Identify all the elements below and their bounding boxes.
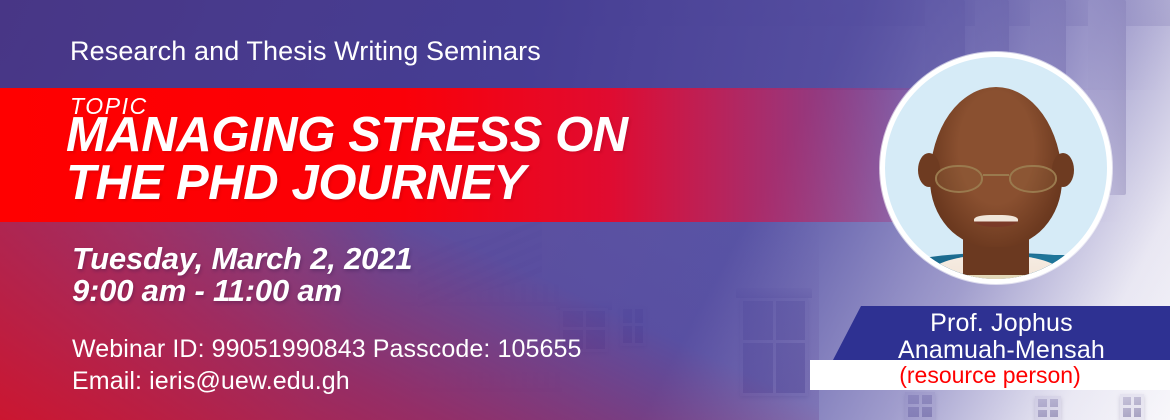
topic-title-line-1: MANAGING STRESS ON xyxy=(66,112,628,160)
speaker-role: (resource person) xyxy=(810,362,1170,389)
event-datetime: Tuesday, March 2, 2021 9:00 am - 11:00 a… xyxy=(72,243,412,306)
speaker-name-line-1: Prof. Jophus xyxy=(833,310,1170,337)
join-details: Webinar ID: 99051990843 Passcode: 105655… xyxy=(72,333,581,397)
contact-email: Email: ieris@uew.edu.gh xyxy=(72,365,581,397)
glasses-bridge xyxy=(983,174,1009,176)
topic-title: MANAGING STRESS ON THE PHD JOURNEY xyxy=(66,112,628,207)
eyeglasses xyxy=(935,165,1057,195)
topic-title-line-2: THE PHD JOURNEY xyxy=(66,160,628,208)
speaker-portrait xyxy=(880,52,1112,284)
event-date: Tuesday, March 2, 2021 xyxy=(72,243,412,275)
seminar-series-title: Research and Thesis Writing Seminars xyxy=(70,36,541,67)
event-time: 9:00 am - 11:00 am xyxy=(72,275,412,307)
mouth xyxy=(974,215,1018,227)
lens-right xyxy=(1009,165,1057,193)
webinar-banner: Research and Thesis Writing Seminars TOP… xyxy=(0,0,1170,420)
lens-left xyxy=(935,165,983,193)
webinar-id-passcode: Webinar ID: 99051990843 Passcode: 105655 xyxy=(72,333,581,365)
speaker-name: Prof. Jophus Anamuah-Mensah xyxy=(833,310,1170,364)
